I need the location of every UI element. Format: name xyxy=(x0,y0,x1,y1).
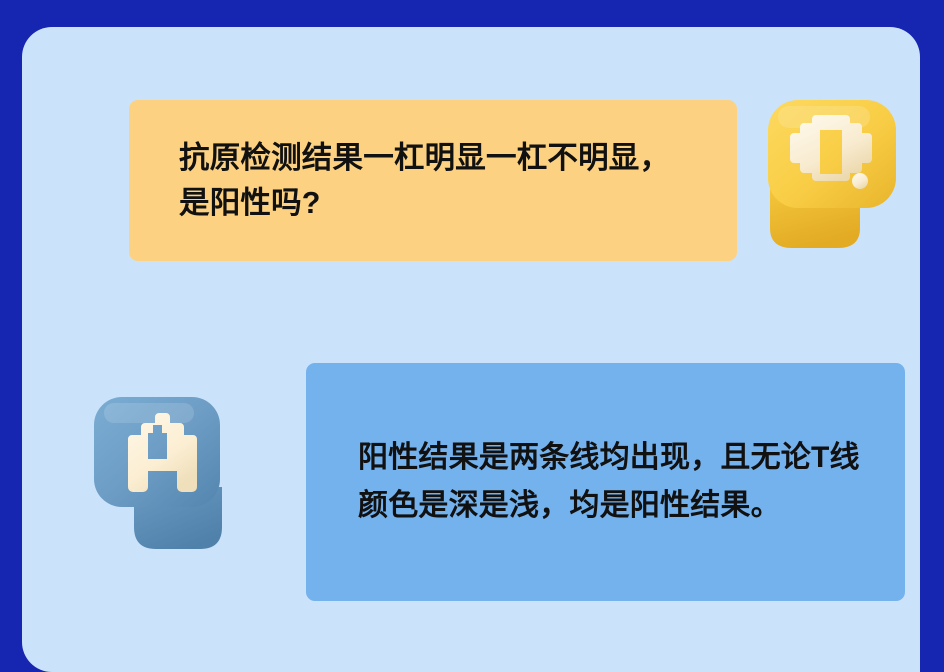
speech-bubble-a-icon xyxy=(84,387,234,577)
question-row: 抗原检测结果一杠明显一杠不明显，是阳性吗? xyxy=(129,100,919,300)
question-bubble: 抗原检测结果一杠明显一杠不明显，是阳性吗? xyxy=(129,100,737,261)
question-text: 抗原检测结果一杠明显一杠不明显，是阳性吗? xyxy=(179,136,693,226)
speech-bubble-q-icon xyxy=(760,88,910,278)
answer-bubble: 阳性结果是两条线均出现，且无论T线颜色是深是浅，均是阳性结果。 xyxy=(306,363,905,601)
qa-card-graphic: 抗原检测结果一杠明显一杠不明显，是阳性吗? xyxy=(0,0,944,672)
answer-row: 阳性结果是两条线均出现，且无论T线颜色是深是浅，均是阳性结果。 xyxy=(84,363,914,613)
content-panel: 抗原检测结果一杠明显一杠不明显，是阳性吗? xyxy=(22,27,920,672)
answer-text: 阳性结果是两条线均出现，且无论T线颜色是深是浅，均是阳性结果。 xyxy=(358,434,875,530)
